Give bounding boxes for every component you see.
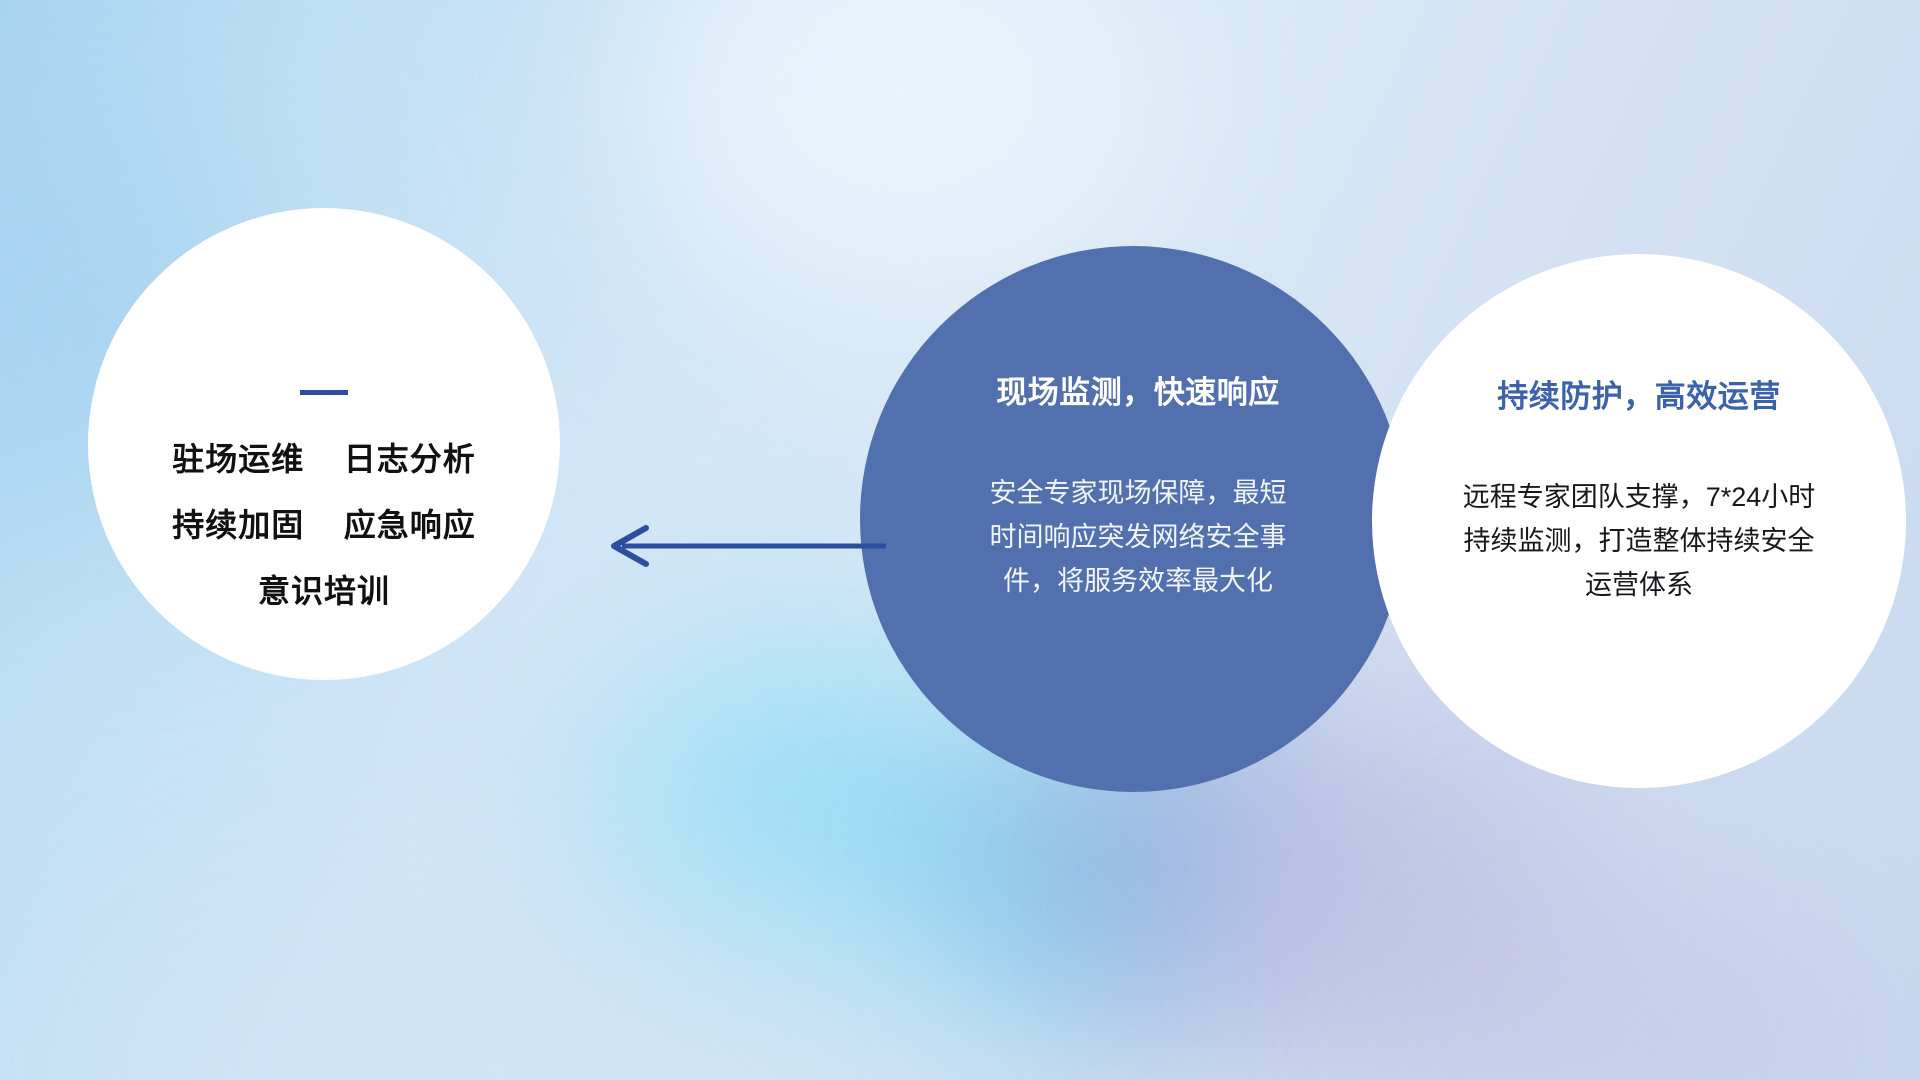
horizontal-rule-icon (300, 390, 348, 395)
service-keywords-circle: 驻场运维 日志分析 持续加固 应急响应 意识培训 (88, 208, 560, 680)
arrow-left-icon (600, 518, 890, 574)
onsite-monitoring-content: 现场监测，快速响应 安全专家现场保障，最短时间响应突发网络安全事件，将服务效率最… (860, 246, 1406, 792)
background-blob-violet-2 (1430, 880, 1890, 1080)
service-keywords-row: 持续加固 应急响应 (172, 509, 476, 541)
onsite-monitoring-title: 现场监测，快速响应 (996, 376, 1280, 410)
continuous-operations-body: 远程专家团队支撑，7*24小时持续监测，打造整体持续安全运营体系 (1456, 476, 1822, 607)
background-blob-bottom (120, 900, 1020, 1080)
continuous-operations-title: 持续防护，高效运营 (1497, 380, 1781, 414)
service-keywords-list: 驻场运维 日志分析 持续加固 应急响应 意识培训 (172, 443, 476, 607)
continuous-operations-content: 持续防护，高效运营 远程专家团队支撑，7*24小时持续监测，打造整体持续安全运营… (1372, 254, 1906, 788)
service-keywords-row: 驻场运维 日志分析 (172, 443, 476, 475)
service-keywords-row: 意识培训 (258, 575, 390, 607)
background-blob-cyan-2 (880, 760, 1140, 1040)
onsite-monitoring-circle: 现场监测，快速响应 安全专家现场保障，最短时间响应突发网络安全事件，将服务效率最… (860, 246, 1406, 792)
slide-canvas: 驻场运维 日志分析 持续加固 应急响应 意识培训 现场监测，快速响应 安全专家现… (0, 0, 1920, 1080)
service-keywords-content: 驻场运维 日志分析 持续加固 应急响应 意识培训 (88, 208, 560, 680)
onsite-monitoring-body: 安全专家现场保障，最短时间响应突发网络安全事件，将服务效率最大化 (983, 472, 1293, 603)
continuous-operations-circle: 持续防护，高效运营 远程专家团队支撑，7*24小时持续监测，打造整体持续安全运营… (1372, 254, 1906, 788)
